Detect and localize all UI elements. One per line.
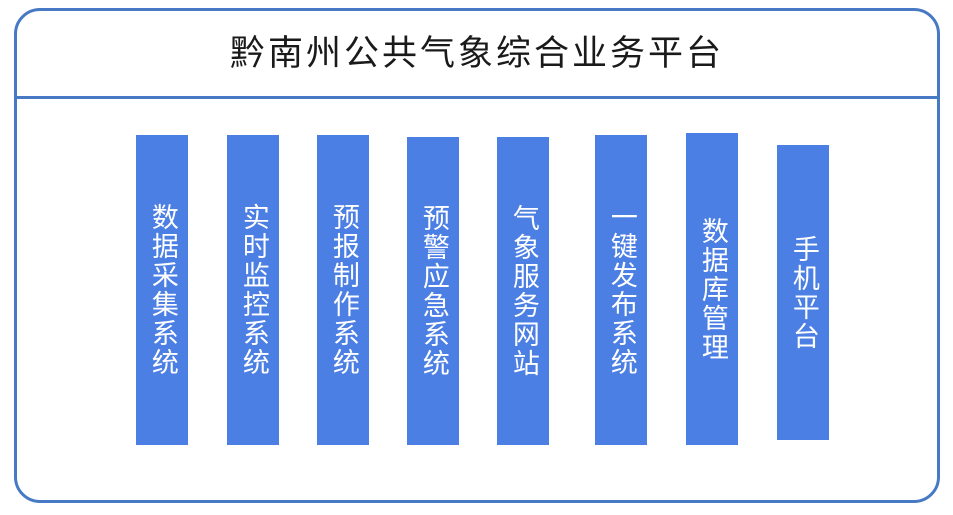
system-block-label: 预警应急系统 xyxy=(415,204,451,378)
system-block[interactable]: 实时监控系统 xyxy=(227,135,279,445)
system-block[interactable]: 数据库管理 xyxy=(686,133,738,445)
system-block-label: 实时监控系统 xyxy=(235,203,271,377)
system-block-label: 数据库管理 xyxy=(694,217,730,362)
system-block[interactable]: 手机平台 xyxy=(777,145,829,440)
system-block[interactable]: 预报制作系统 xyxy=(317,135,369,445)
system-block[interactable]: 气象服务网站 xyxy=(497,137,549,445)
system-block-label: 气象服务网站 xyxy=(505,204,541,378)
title-band: 黔南州公共气象综合业务平台 xyxy=(17,11,937,98)
columns-area: 数据采集系统实时监控系统预报制作系统预警应急系统气象服务网站一键发布系统数据库管… xyxy=(17,100,937,500)
system-block[interactable]: 数据采集系统 xyxy=(136,135,188,445)
system-block[interactable]: 一键发布系统 xyxy=(595,135,647,445)
diagram-canvas: 黔南州公共气象综合业务平台 数据采集系统实时监控系统预报制作系统预警应急系统气象… xyxy=(0,0,953,515)
system-block-label: 预报制作系统 xyxy=(325,203,361,377)
system-block-label: 手机平台 xyxy=(785,235,821,351)
title-divider xyxy=(16,96,938,99)
page-title: 黔南州公共气象综合业务平台 xyxy=(230,35,724,74)
system-block-label: 一键发布系统 xyxy=(603,203,639,377)
system-block[interactable]: 预警应急系统 xyxy=(407,137,459,445)
system-block-label: 数据采集系统 xyxy=(144,203,180,377)
